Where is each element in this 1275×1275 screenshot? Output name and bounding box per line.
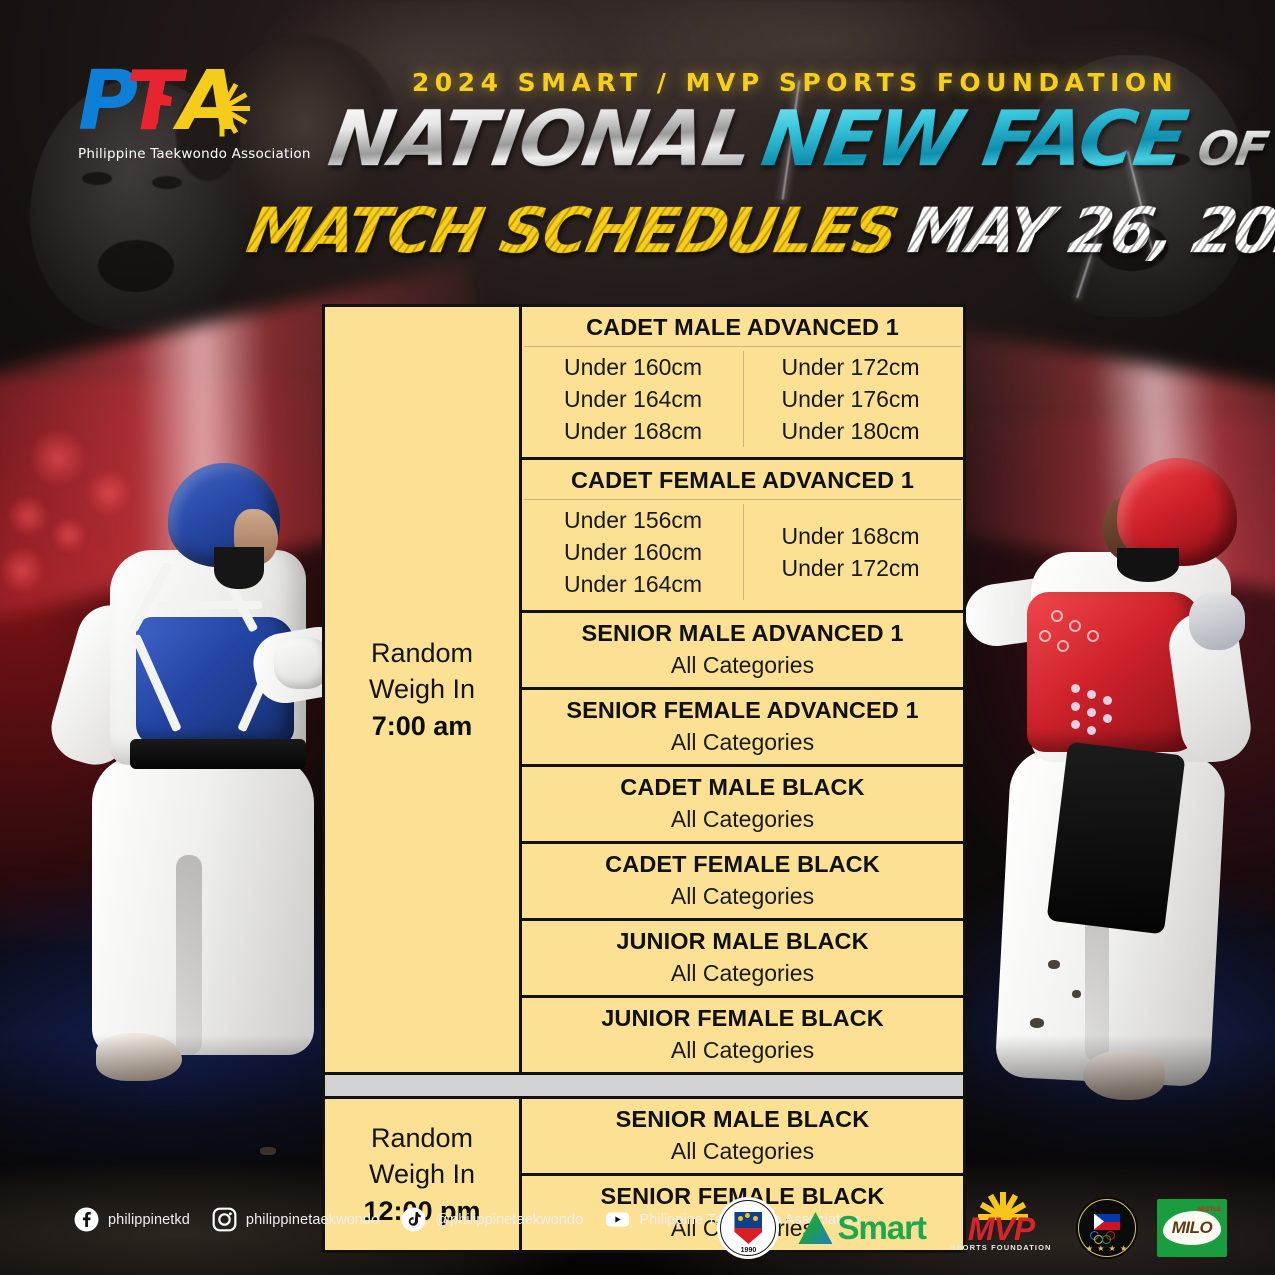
weigh-in-time-cell-morning: Random Weigh In 7:00 am bbox=[325, 307, 522, 1072]
subtitle-match-schedules: MATCH SCHEDULES bbox=[242, 198, 901, 264]
subtitle-event-date: MAY 26, 2024 bbox=[903, 198, 1275, 264]
schedule-separator-bar bbox=[322, 1075, 966, 1096]
category-title: SENIOR MALE ADVANCED 1 bbox=[522, 613, 963, 652]
category-subtitle: All Categories bbox=[522, 1037, 963, 1072]
category-title: JUNIOR MALE BLACK bbox=[522, 921, 963, 960]
weight-class-item: Under 160cm bbox=[564, 536, 743, 568]
category-subtitle: All Categories bbox=[522, 883, 963, 918]
category-group-senior-male-advanced-1: SENIOR MALE ADVANCED 1 All Categories bbox=[522, 613, 963, 690]
social-handle: philippinetaekwondo bbox=[246, 1212, 379, 1228]
smart-wordmark: Smart bbox=[837, 1209, 926, 1247]
footer-bar: philippinetkd philippinetaekwondo @phili… bbox=[0, 1189, 1275, 1275]
category-title: CADET FEMALE BLACK bbox=[522, 844, 963, 883]
category-subtitle: All Categories bbox=[522, 806, 963, 841]
smart-logo: Smart bbox=[798, 1209, 926, 1247]
weight-class-column-left: Under 156cm Under 160cm Under 164cm bbox=[522, 504, 743, 600]
weight-class-item: Under 168cm bbox=[782, 520, 964, 552]
category-group-cadet-female-black: CADET FEMALE BLACK All Categories bbox=[522, 844, 963, 921]
ground-speck bbox=[260, 1147, 276, 1155]
athlete-blue-gear bbox=[18, 455, 348, 1115]
category-title: JUNIOR FEMALE BLACK bbox=[522, 998, 963, 1037]
weight-class-item: Under 176cm bbox=[782, 383, 964, 415]
weigh-in-time-value: 7:00 am bbox=[372, 707, 473, 745]
milo-logo: MILO NESTLE bbox=[1157, 1199, 1227, 1257]
event-title: NATIONALNEW FACEOF THEYEAR bbox=[330, 100, 1260, 190]
weight-class-column-left: Under 160cm Under 164cm Under 168cm bbox=[522, 351, 743, 447]
category-subtitle: All Categories bbox=[522, 729, 963, 764]
mvp-sports-foundation-logo: MVP SPORTS FOUNDATION bbox=[945, 1199, 1057, 1257]
pta-logo-letters: P T A bbox=[78, 72, 288, 144]
weight-class-grid: Under 160cm Under 164cm Under 168cm Unde… bbox=[522, 347, 963, 457]
milo-blob-shape: MILO bbox=[1163, 1211, 1221, 1245]
social-tiktok[interactable]: @philippinetaekwondo bbox=[401, 1207, 583, 1232]
poster-canvas: P T A Philippine Taekwondo Association 2… bbox=[0, 0, 1275, 1275]
category-subtitle: All Categories bbox=[522, 652, 963, 687]
category-group-cadet-male-advanced-1: CADET MALE ADVANCED 1 Under 160cm Under … bbox=[522, 307, 963, 460]
debris bbox=[1072, 990, 1081, 998]
social-instagram[interactable]: philippinetaekwondo bbox=[212, 1207, 379, 1232]
philippine-flag-icon bbox=[1094, 1214, 1120, 1230]
philippine-olympic-committee-logo: ★ ★ ★ ★ bbox=[1076, 1197, 1138, 1259]
weight-class-grid: Under 156cm Under 160cm Under 164cm Unde… bbox=[522, 500, 963, 610]
schedule-block-morning: Random Weigh In 7:00 am CADET MALE ADVAN… bbox=[322, 304, 966, 1075]
weight-class-item: Under 156cm bbox=[564, 504, 743, 536]
tiktok-icon bbox=[401, 1207, 426, 1232]
weight-class-column-right: Under 172cm Under 176cm Under 180cm bbox=[743, 351, 964, 447]
instagram-icon bbox=[212, 1207, 237, 1232]
weigh-in-label-line-2: Weigh In bbox=[369, 671, 475, 707]
weigh-in-label-line-1: Random bbox=[371, 635, 473, 671]
facebook-icon bbox=[74, 1207, 99, 1232]
weight-class-item: Under 180cm bbox=[782, 415, 964, 447]
weight-class-item: Under 164cm bbox=[564, 568, 743, 600]
category-group-senior-male-black: SENIOR MALE BLACK All Categories bbox=[522, 1099, 963, 1176]
social-handle: philippinetkd bbox=[108, 1212, 190, 1228]
pta-logo: P T A Philippine Taekwondo Association bbox=[78, 72, 298, 172]
category-title: CADET FEMALE ADVANCED 1 bbox=[522, 460, 963, 499]
mvp-subtitle: SPORTS FOUNDATION bbox=[945, 1243, 1057, 1252]
social-handle: @philippinetaekwondo bbox=[435, 1212, 583, 1228]
olympic-rings-icon bbox=[1090, 1231, 1124, 1243]
psc-year: 1990 bbox=[717, 1247, 779, 1254]
weight-class-item: Under 172cm bbox=[782, 351, 964, 383]
subtitle-block: MATCH SCHEDULESMAY 26, 2024 bbox=[248, 198, 1048, 264]
sun-rays-icon bbox=[196, 82, 252, 132]
social-facebook[interactable]: philippinetkd bbox=[74, 1207, 190, 1232]
athlete-red-gear bbox=[975, 452, 1275, 1122]
category-group-cadet-male-black: CADET MALE BLACK All Categories bbox=[522, 767, 963, 844]
category-group-junior-female-black: JUNIOR FEMALE BLACK All Categories bbox=[522, 998, 963, 1072]
category-title: SENIOR FEMALE ADVANCED 1 bbox=[522, 690, 963, 729]
nestle-badge: NESTLE bbox=[1197, 1207, 1221, 1213]
title-word-of-the: OF THE bbox=[1192, 110, 1275, 190]
category-title: SENIOR MALE BLACK bbox=[522, 1099, 963, 1138]
weigh-in-label-line-2: Weigh In bbox=[369, 1156, 475, 1192]
weight-class-column-right: Under 168cm Under 172cm bbox=[743, 504, 964, 600]
schedule-table: Random Weigh In 7:00 am CADET MALE ADVAN… bbox=[322, 304, 966, 1253]
weight-class-item: Under 160cm bbox=[564, 351, 743, 383]
youtube-icon bbox=[605, 1207, 630, 1232]
weight-class-item: Under 168cm bbox=[564, 415, 743, 447]
weight-class-item: Under 172cm bbox=[782, 552, 964, 584]
category-column-morning: CADET MALE ADVANCED 1 Under 160cm Under … bbox=[522, 307, 963, 1072]
category-group-senior-female-advanced-1: SENIOR FEMALE ADVANCED 1 All Categories bbox=[522, 690, 963, 767]
philippine-sports-commission-logo: 1990 bbox=[717, 1197, 779, 1259]
sponsor-logos: 1990 Smart MVP SPORTS FOUNDATION bbox=[717, 1197, 1227, 1259]
smart-triangle-icon bbox=[798, 1212, 832, 1244]
event-kicker: 2024 SMART / MVP SPORTS FOUNDATION bbox=[330, 68, 1260, 97]
poc-stars: ★ ★ ★ ★ bbox=[1076, 1244, 1138, 1253]
category-group-cadet-female-advanced-1: CADET FEMALE ADVANCED 1 Under 156cm Unde… bbox=[522, 460, 963, 613]
header-block: 2024 SMART / MVP SPORTS FOUNDATION NATIO… bbox=[330, 68, 1260, 190]
milo-wordmark: MILO bbox=[1172, 1218, 1213, 1238]
weight-class-item: Under 164cm bbox=[564, 383, 743, 415]
debris bbox=[1030, 1018, 1044, 1028]
title-word-national: NATIONAL bbox=[324, 100, 757, 180]
category-group-junior-male-black: JUNIOR MALE BLACK All Categories bbox=[522, 921, 963, 998]
mvp-wordmark: MVP bbox=[945, 1213, 1057, 1245]
category-title: CADET MALE BLACK bbox=[522, 767, 963, 806]
category-subtitle: All Categories bbox=[522, 1138, 963, 1173]
debris bbox=[1048, 960, 1060, 969]
title-word-new-face: NEW FACE bbox=[757, 100, 1191, 180]
weigh-in-label-line-1: Random bbox=[371, 1120, 473, 1156]
category-title: CADET MALE ADVANCED 1 bbox=[522, 307, 963, 346]
category-subtitle: All Categories bbox=[522, 960, 963, 995]
